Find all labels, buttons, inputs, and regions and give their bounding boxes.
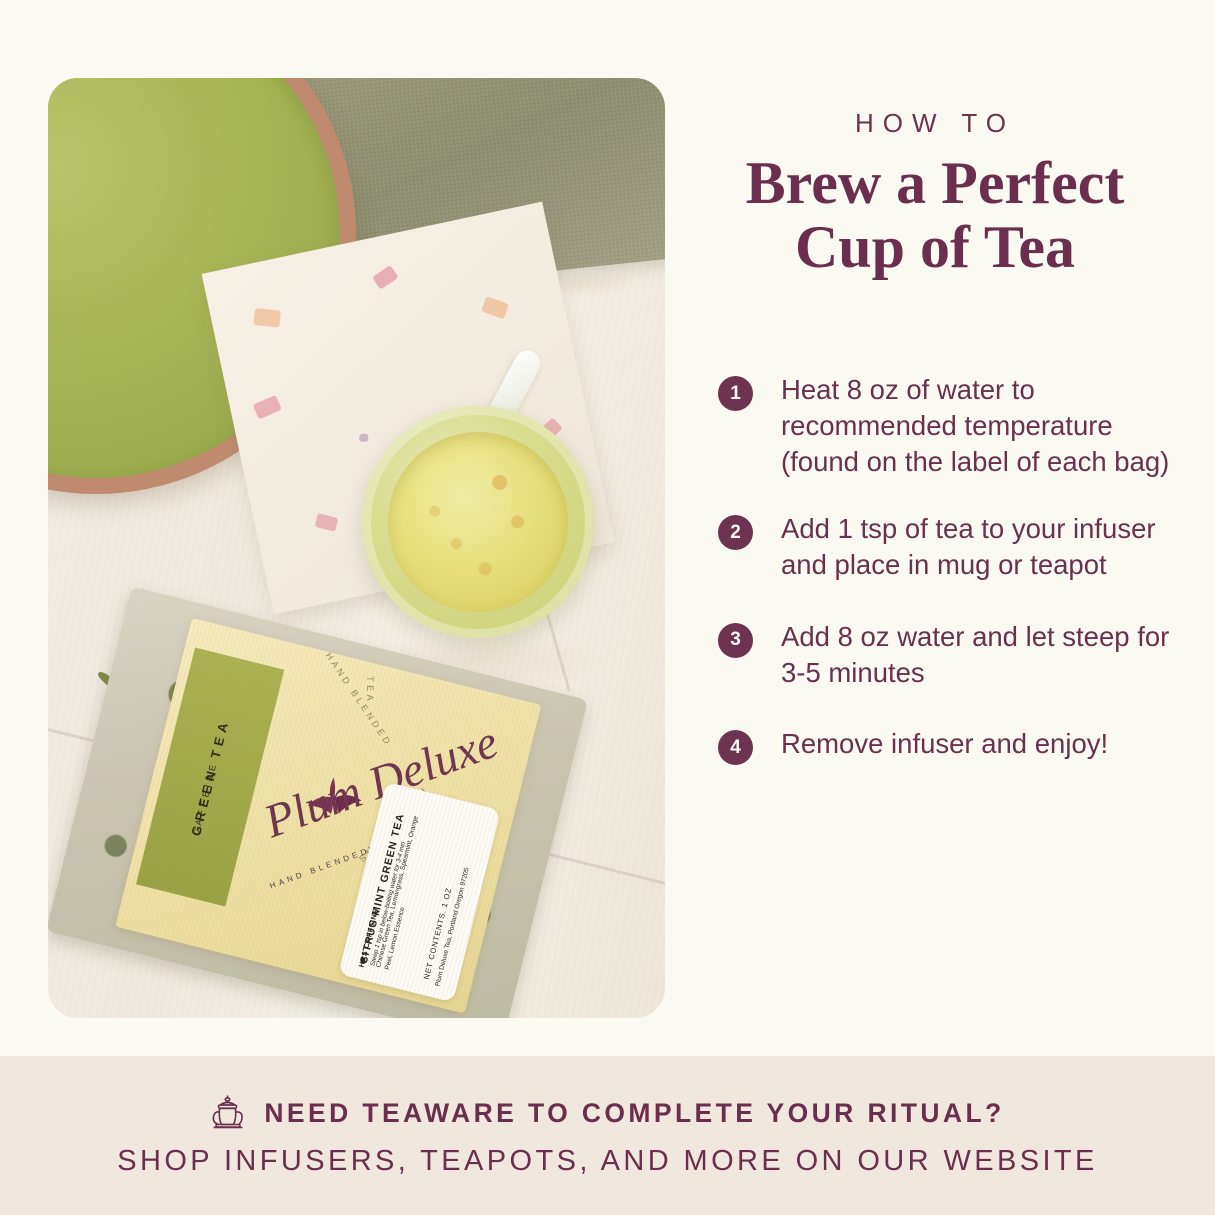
brand-name: Plum Deluxe <box>257 727 473 850</box>
terrazzo-chip <box>253 308 281 328</box>
label-ingredients: Chinese Green Tea, Lemongrass, Spearmint… <box>375 802 433 971</box>
footer-subline: SHOP INFUSERS, TEAPOTS, AND MORE ON OUR … <box>117 1145 1098 1178</box>
brewed-tea-liquid <box>388 432 568 612</box>
footer-banner: NEED TEAWARE TO COMPLETE YOUR RITUAL? SH… <box>0 1056 1215 1215</box>
step-text: Heat 8 oz of water to recommended temper… <box>781 372 1198 479</box>
terrazzo-chip <box>253 395 282 420</box>
step-text: Add 1 tsp of tea to your infuser and pla… <box>781 511 1198 583</box>
page-title: Brew a Perfect Cup of Tea <box>690 152 1180 279</box>
step-number-badge: 1 <box>718 376 753 411</box>
list-item: 4 Remove infuser and enjoy! <box>718 726 1198 765</box>
steps-list: 1 Heat 8 oz of water to recommended temp… <box>718 372 1198 797</box>
step-number-badge: 2 <box>718 515 753 550</box>
list-item: 2 Add 1 tsp of tea to your infuser and p… <box>718 511 1198 583</box>
hero-photo: GREEN TEA CAFFEINE HAND BLENDED TEA SMAL… <box>48 78 665 1018</box>
terrazzo-chip <box>359 434 368 442</box>
label-company-address: Plum Deluxe Tea, Portland Oregon 97205 <box>434 867 470 987</box>
label-caffeine-note: HAS CAFFEINE <box>357 908 380 969</box>
page-title-line-1: Brew a Perfect <box>690 152 1180 216</box>
footer-line-1-row: NEED TEAWARE TO COMPLETE YOUR RITUAL? <box>210 1093 1004 1133</box>
terrazzo-chip <box>372 265 399 290</box>
step-text: Remove infuser and enjoy! <box>781 726 1108 765</box>
page-title-line-2: Cup of Tea <box>690 216 1180 280</box>
instructions-panel: HOW TO Brew a Perfect Cup of Tea 1 Heat … <box>690 0 1215 1040</box>
step-text: Add 8 oz water and let steep for 3-5 min… <box>781 619 1198 691</box>
list-item: 3 Add 8 oz water and let steep for 3-5 m… <box>718 619 1198 691</box>
package-arc-text-small-batch: SMALL BATCH <box>357 784 431 864</box>
label-product-name: CITRUS MINT GREEN TEA <box>358 812 407 965</box>
label-steep-instructions: Steep 1 tsp in below-boiling water for 3… <box>369 841 407 967</box>
step-number-badge: 4 <box>718 730 753 765</box>
green-tea-band-main: GREEN TEA <box>188 717 232 838</box>
terrazzo-chip <box>481 296 509 319</box>
plum-deluxe-bird-logo <box>305 775 364 817</box>
footer-headline: NEED TEAWARE TO COMPLETE YOUR RITUAL? <box>264 1098 1004 1129</box>
package-arc-text-tea: TEA <box>365 676 375 704</box>
glass-tea-cup <box>362 406 594 638</box>
green-tea-band-sub: CAFFEINE <box>191 760 219 837</box>
label-net-contents: NET CONTENTS. 1 OZ <box>422 887 454 981</box>
brand-tagline: HAND BLENDED TEAS <box>268 832 409 891</box>
step-number-badge: 3 <box>718 623 753 658</box>
teapot-icon <box>210 1093 246 1133</box>
list-item: 1 Heat 8 oz of water to recommended temp… <box>718 372 1198 479</box>
eyebrow-label: HOW TO <box>690 108 1180 139</box>
package-arc-text-hand-blended: HAND BLENDED <box>324 651 395 749</box>
terrazzo-chip <box>315 513 339 532</box>
label-bullet-dot <box>360 957 366 963</box>
